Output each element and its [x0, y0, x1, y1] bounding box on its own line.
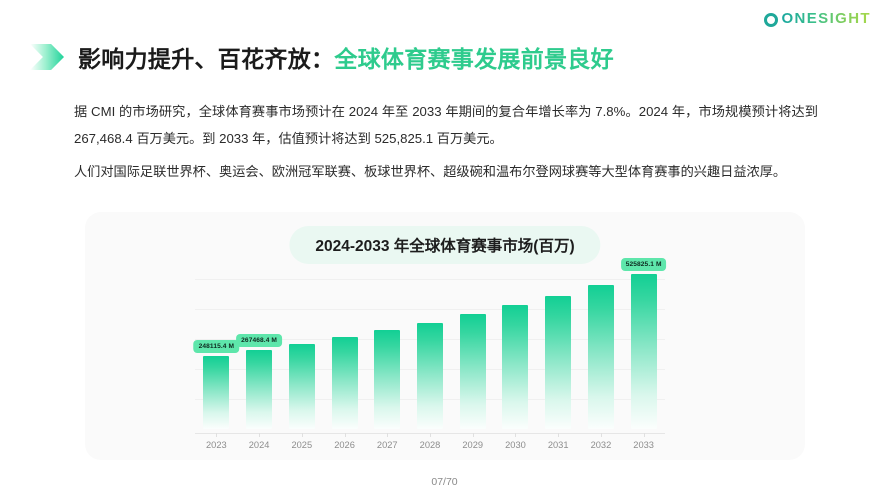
x-axis-label-2023: 2023 — [206, 440, 227, 450]
page-number: 07/70 — [0, 476, 889, 488]
chart-card: 2024-2033 年全球体育赛事市场(百万) 248115.4 M267468… — [85, 212, 805, 460]
x-tick-2033 — [644, 433, 645, 437]
body-paragraph-1: 据 CMI 的市场研究，全球体育赛事市场预计在 2024 年至 2033 年期间… — [74, 98, 818, 152]
bar-2026[interactable] — [332, 337, 358, 429]
bar-2032[interactable] — [588, 285, 614, 429]
x-axis-label-2025: 2025 — [291, 440, 312, 450]
x-tick-2029 — [473, 433, 474, 437]
bar-2027[interactable] — [374, 330, 400, 429]
x-axis-label-2027: 2027 — [377, 440, 398, 450]
x-axis-label-2030: 2030 — [505, 440, 526, 450]
brand-name: ONESIGHT — [781, 10, 871, 27]
title-plain: 影响力提升、百花齐放： — [78, 46, 334, 72]
x-tick-2025 — [302, 433, 303, 437]
x-tick-2027 — [387, 433, 388, 437]
x-axis-label-2032: 2032 — [591, 440, 612, 450]
bar-2023[interactable] — [203, 356, 229, 429]
x-tick-2028 — [430, 433, 431, 437]
x-tick-2031 — [558, 433, 559, 437]
x-tick-2032 — [601, 433, 602, 437]
bar-2030[interactable] — [502, 305, 528, 429]
bar-2031[interactable] — [545, 296, 571, 429]
x-axis-label-2029: 2029 — [462, 440, 483, 450]
x-tick-2024 — [259, 433, 260, 437]
bar-2025[interactable] — [289, 344, 315, 429]
bar-2024[interactable] — [246, 350, 272, 429]
chart-title: 2024-2033 年全球体育赛事市场(百万) — [289, 226, 600, 264]
brand-logo: ONESIGHT — [764, 10, 871, 27]
bar-2029[interactable] — [460, 314, 486, 429]
x-tick-2023 — [216, 433, 217, 437]
bar-2028[interactable] — [417, 323, 443, 429]
x-tick-2030 — [515, 433, 516, 437]
title-text: 影响力提升、百花齐放：全球体育赛事发展前景良好 — [78, 40, 614, 74]
bar-value-label-2023: 248115.4 M — [194, 340, 239, 353]
bar-2033[interactable] — [631, 274, 657, 429]
gridline — [195, 279, 665, 280]
x-axis-label-2028: 2028 — [420, 440, 441, 450]
chevron-right-icon — [30, 44, 64, 70]
x-axis-label-2026: 2026 — [334, 440, 355, 450]
bar-value-label-2024: 267468.4 M — [236, 334, 282, 347]
bar-chart-plot: 248115.4 M267468.4 M525825.1 M — [195, 264, 665, 429]
page-title: 影响力提升、百花齐放：全球体育赛事发展前景良好 — [30, 40, 614, 74]
x-axis-label-2031: 2031 — [548, 440, 569, 450]
x-axis-label-2033: 2033 — [633, 440, 654, 450]
body-paragraph-2: 人们对国际足联世界杯、奥运会、欧洲冠军联赛、板球世界杯、超级碗和温布尔登网球赛等… — [74, 158, 818, 185]
circle-logo-icon — [764, 13, 778, 27]
x-axis-label-2024: 2024 — [249, 440, 270, 450]
bar-value-label-2033: 525825.1 M — [621, 258, 667, 271]
x-tick-2026 — [345, 433, 346, 437]
title-accent: 全球体育赛事发展前景良好 — [334, 46, 614, 72]
